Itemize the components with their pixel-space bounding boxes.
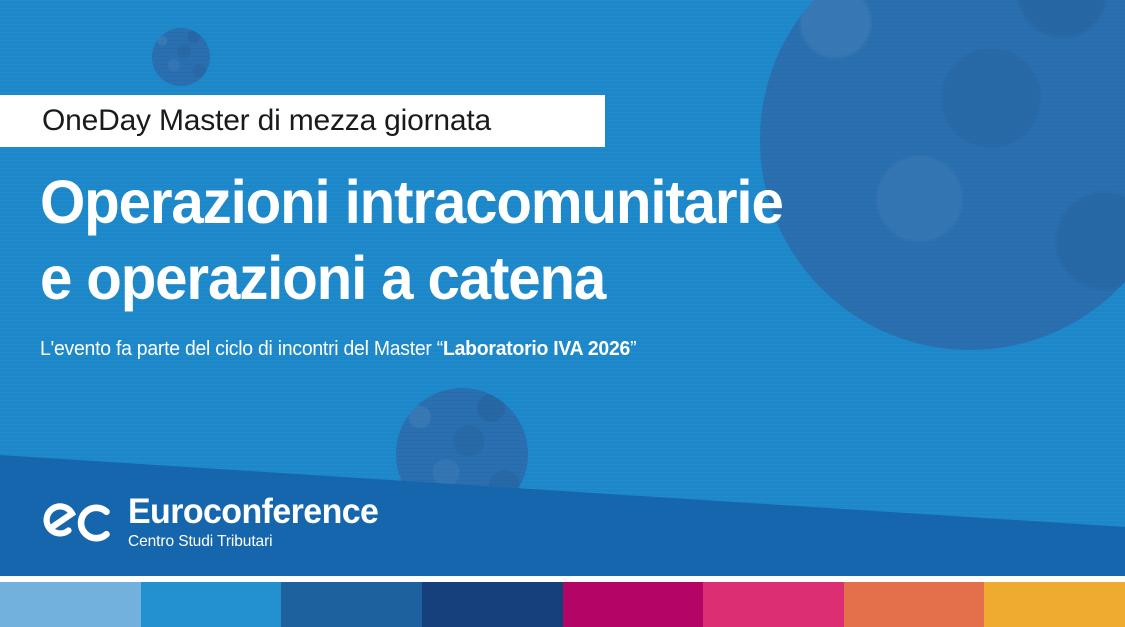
subtitle-highlight: Laboratorio IVA 2026 (443, 338, 630, 360)
brand-color-stripe (0, 582, 1125, 627)
decorative-circle-small (152, 28, 210, 86)
euroconference-logo: Euroconference Centro Studi Tributari (42, 494, 386, 551)
page-title: Operazioni intracomunitarie e operazioni… (40, 164, 1014, 316)
stripe-segment-5 (563, 582, 704, 627)
stripe-segment-6 (703, 582, 844, 627)
logo-tagline: Centro Studi Tributari (128, 532, 378, 551)
event-banner: OneDay Master di mezza giornata Operazio… (0, 0, 1125, 627)
logo-name: Euroconference (128, 494, 378, 530)
stripe-segment-4 (422, 582, 563, 627)
stripe-segment-8 (984, 582, 1125, 627)
subtitle-prefix: L'evento fa parte del ciclo di incontri … (40, 338, 443, 360)
stripe-segment-2 (141, 582, 282, 627)
eyebrow-text: OneDay Master di mezza giornata (0, 104, 491, 138)
logo-wordmark: Euroconference Centro Studi Tributari (128, 494, 386, 551)
stripe-segment-7 (844, 582, 985, 627)
subtitle: L'evento fa parte del ciclo di incontri … (40, 338, 636, 361)
eyebrow-label: OneDay Master di mezza giornata (0, 95, 605, 147)
subtitle-suffix: ” (630, 338, 636, 360)
stripe-segment-1 (0, 582, 141, 627)
ec-monogram-icon (42, 497, 114, 549)
page-title-line-2: e operazioni a catena (40, 240, 1014, 316)
page-title-line-1: Operazioni intracomunitarie (40, 164, 1014, 240)
stripe-segment-3 (281, 582, 422, 627)
